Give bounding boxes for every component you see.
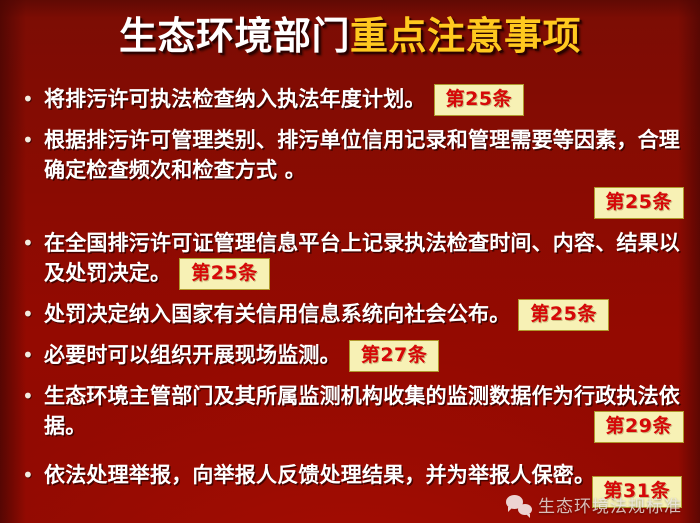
- list-item: • 处罚决定纳入国家有关信用信息系统向社会公布。第25条: [0, 299, 700, 331]
- article-badge: 第25条: [594, 187, 684, 219]
- list-item-body: 将排污许可执法检查纳入执法年度计划。: [44, 87, 426, 111]
- bullet-marker-icon: •: [22, 381, 44, 411]
- slide-canvas: 生态环境部门重点注意事项 • 将排污许可执法检查纳入执法年度计划。第25条 • …: [0, 0, 700, 523]
- bullet-marker-icon: •: [22, 228, 44, 258]
- list-item-body: 在全国排污许可证管理信息平台上记录执法检查时间、内容、结果以及处罚决定。: [44, 231, 680, 285]
- list-item: • 在全国排污许可证管理信息平台上记录执法检查时间、内容、结果以及处罚决定。第2…: [0, 228, 700, 290]
- list-item: • 将排污许可执法检查纳入执法年度计划。第25条: [0, 84, 700, 116]
- list-item-text: 处罚决定纳入国家有关信用信息系统向社会公布。第25条: [44, 299, 686, 331]
- watermark: 生态环境法规标准: [506, 492, 682, 517]
- bullet-marker-icon: •: [22, 340, 44, 370]
- list-item: • 必要时可以组织开展现场监测。第27条: [0, 340, 700, 372]
- title-segment-keypoints: 重点注意事项: [350, 14, 581, 58]
- list-item-text: 将排污许可执法检查纳入执法年度计划。第25条: [44, 84, 686, 116]
- article-badge: 第27条: [349, 340, 439, 372]
- article-badge: 第25条: [518, 299, 608, 331]
- bullet-marker-icon: •: [22, 84, 44, 114]
- list-item-text: 必要时可以组织开展现场监测。第27条: [44, 340, 686, 372]
- list-item-body: 处罚决定纳入国家有关信用信息系统向社会公布。: [44, 302, 510, 326]
- article-badge: 第25条: [434, 84, 524, 116]
- bullet-list: • 将排污许可执法检查纳入执法年度计划。第25条 • 根据排污许可管理类别、排污…: [0, 84, 700, 499]
- title-segment-department: 生态环境部门: [119, 14, 350, 58]
- list-item-text: 在全国排污许可证管理信息平台上记录执法检查时间、内容、结果以及处罚决定。第25条: [44, 228, 686, 290]
- list-item: • 依法处理举报，向举报人反馈处理结果，并为举报人保密。 第31条: [0, 460, 700, 490]
- article-badge: 第29条: [594, 411, 684, 443]
- list-item: • 生态环境主管部门及其所属监测机构收集的监测数据作为行政执法依据。 第29条: [0, 381, 700, 451]
- list-item-body: 必要时可以组织开展现场监测。: [44, 343, 341, 367]
- list-item: • 根据排污许可管理类别、排污单位信用记录和管理需要等因素，合理确定检查频次和检…: [0, 125, 700, 219]
- list-item-text: 根据排污许可管理类别、排污单位信用记录和管理需要等因素，合理确定检查频次和检查方…: [44, 125, 686, 185]
- wechat-icon: [506, 495, 532, 515]
- article-badge: 第25条: [179, 258, 269, 290]
- list-item-text: 依法处理举报，向举报人反馈处理结果，并为举报人保密。: [44, 460, 686, 490]
- page-title: 生态环境部门重点注意事项: [0, 16, 700, 58]
- watermark-label: 生态环境法规标准: [538, 492, 682, 517]
- bullet-marker-icon: •: [22, 460, 44, 490]
- bullet-marker-icon: •: [22, 299, 44, 329]
- list-item-text: 生态环境主管部门及其所属监测机构收集的监测数据作为行政执法依据。: [44, 381, 686, 441]
- bullet-marker-icon: •: [22, 125, 44, 155]
